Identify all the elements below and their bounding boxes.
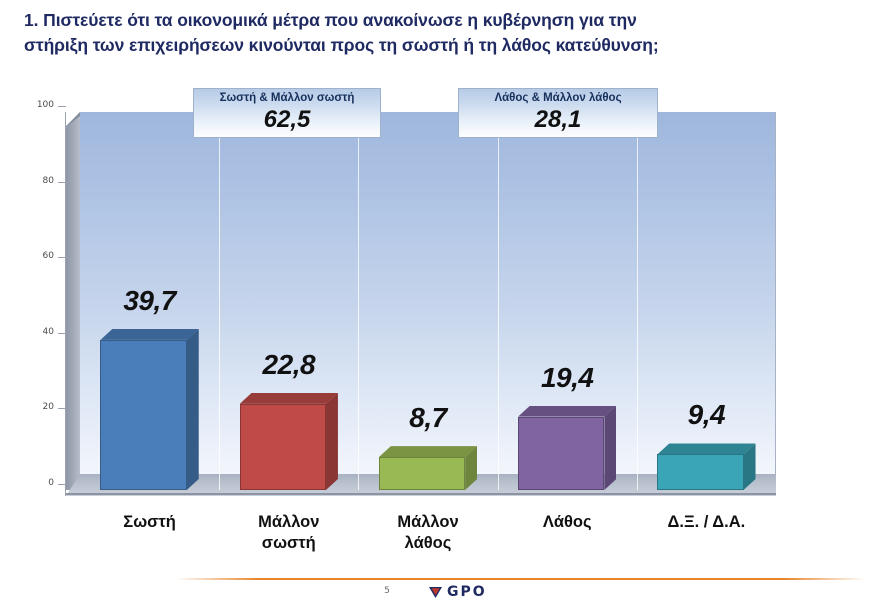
bar-side-face: [187, 329, 199, 490]
x-axis-label-line: Μάλλον: [219, 512, 358, 533]
page-title: 1. Πιστεύετε ότι τα οικονομικά μέτρα που…: [24, 8, 864, 59]
bar-side-face: [326, 393, 338, 490]
chart-left-wall: [66, 112, 80, 490]
y-axis-tick-label: 60: [14, 251, 54, 261]
x-axis-label-line: Δ.Ξ. / Δ.Α.: [637, 512, 776, 533]
y-axis-tick: [58, 257, 66, 258]
bar-top-face: [657, 443, 755, 454]
y-axis-tick: [58, 484, 66, 485]
y-axis-tick: [58, 333, 66, 334]
x-axis-label: Μάλλονλάθος: [358, 512, 497, 554]
page-title-line-1: 1. Πιστεύετε ότι τα οικονομικά μέτρα που…: [24, 8, 864, 33]
x-axis-label: Λάθος: [498, 512, 637, 533]
bar-front-face: [518, 417, 604, 490]
bar-top-face: [240, 393, 338, 404]
category-separator: [637, 112, 638, 490]
footer-divider: [176, 578, 866, 580]
y-axis-tick: [58, 408, 66, 409]
callout-value: 28,1: [459, 107, 657, 132]
x-axis-label-line: Μάλλον: [358, 512, 497, 533]
page-number: 5: [375, 586, 399, 596]
chart-floor-edge: [66, 493, 776, 495]
bar-front-face: [240, 404, 326, 490]
y-axis-tick-label: 80: [14, 176, 54, 186]
bar-value-label: 8,7: [368, 402, 488, 434]
x-axis-label: Σωστή: [80, 512, 219, 533]
gpo-logo-mark-icon: [428, 586, 443, 599]
page-title-line-2: στήριξη των επιχειρήσεων κινούνται προς …: [24, 33, 864, 58]
bar[interactable]: [379, 446, 477, 490]
bar[interactable]: [240, 393, 338, 490]
gpo-logo-text: GPO: [447, 584, 487, 600]
y-axis-tick-label: 40: [14, 327, 54, 337]
x-axis-label-line: σωστή: [219, 533, 358, 554]
callout-box-wrong: Λάθος & Μάλλον λάθος 28,1: [458, 88, 658, 138]
y-axis-tick: [58, 182, 66, 183]
bar[interactable]: [100, 329, 198, 490]
bar-value-label: 39,7: [90, 285, 210, 317]
bar-value-label: 19,4: [507, 362, 627, 394]
x-axis-label: Δ.Ξ. / Δ.Α.: [637, 512, 776, 533]
category-separator: [498, 112, 499, 490]
callout-label: Λάθος & Μάλλον λάθος: [459, 92, 657, 106]
x-axis-label-line: λάθος: [358, 533, 497, 554]
bar-top-face: [518, 406, 616, 417]
category-separator: [219, 112, 220, 490]
callout-value: 62,5: [194, 107, 380, 132]
bar-chart: 020406080100 39,722,88,719,49,4 ΣωστήΜάλ…: [0, 80, 880, 500]
y-axis-line: [65, 112, 66, 496]
callout-label: Σωστή & Μάλλον σωστή: [194, 92, 380, 106]
bar-top-face: [379, 446, 477, 457]
bar-front-face: [100, 340, 186, 490]
bar-top-face: [100, 329, 198, 340]
bar[interactable]: [518, 406, 616, 490]
x-axis-label-line: Σωστή: [80, 512, 219, 533]
y-axis-tick: [58, 106, 66, 107]
x-axis-label: Μάλλονσωστή: [219, 512, 358, 554]
y-axis-tick-label: 20: [14, 402, 54, 412]
bar-value-label: 22,8: [229, 349, 349, 381]
bar-value-label: 9,4: [646, 399, 766, 431]
y-axis-tick-label: 0: [14, 478, 54, 488]
category-separator: [358, 112, 359, 490]
bar[interactable]: [657, 443, 755, 490]
bar-side-face: [604, 406, 616, 490]
bar-front-face: [379, 457, 465, 490]
callout-box-correct: Σωστή & Μάλλον σωστή 62,5: [193, 88, 381, 138]
y-axis-tick-label: 100: [14, 100, 54, 110]
x-axis-label-line: Λάθος: [498, 512, 637, 533]
gpo-logo: GPO: [428, 584, 487, 600]
bar-front-face: [657, 454, 743, 490]
